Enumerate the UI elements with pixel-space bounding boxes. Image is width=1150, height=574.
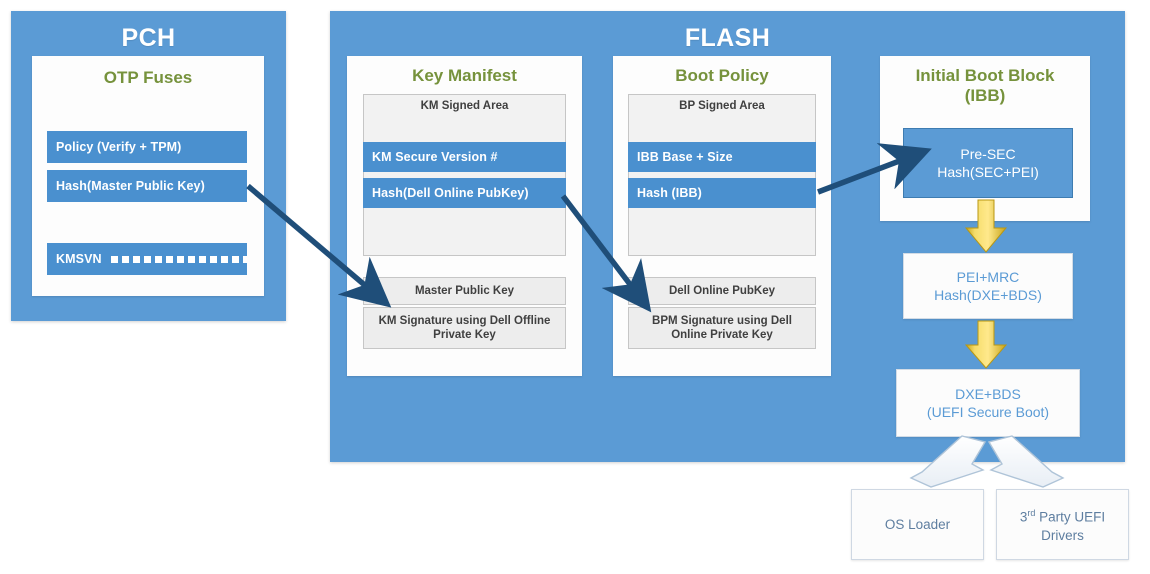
dxe-bds-box: DXE+BDS (UEFI Secure Boot) bbox=[896, 369, 1080, 437]
diagram-canvas: PCH OTP Fuses Policy (Verify + TPM) Hash… bbox=[0, 0, 1150, 574]
third-party-uefi-drivers-box: 3rd Party UEFI Drivers bbox=[996, 489, 1129, 560]
dxe-bds-line1: DXE+BDS bbox=[955, 386, 1021, 402]
otp-fuses-title: OTP Fuses bbox=[32, 68, 264, 88]
third-party-superscript: rd bbox=[1027, 508, 1035, 518]
bp-signed-area-label: BP Signed Area bbox=[629, 100, 815, 112]
km-signature: KM Signature using Dell Offline Private … bbox=[363, 307, 566, 349]
bp-row-hash-ibb: Hash (IBB) bbox=[628, 178, 816, 208]
km-row-hash-dell-online-pubkey: Hash(Dell Online PubKey) bbox=[363, 178, 566, 208]
pei-mrc-line1: PEI+MRC bbox=[957, 269, 1020, 285]
third-party-line2: Drivers bbox=[1041, 528, 1084, 543]
ibb-title: Initial Boot Block (IBB) bbox=[880, 66, 1090, 106]
bp-signature: BPM Signature using Dell Online Private … bbox=[628, 307, 816, 349]
os-loader-label: OS Loader bbox=[885, 516, 950, 534]
pch-row-policy: Policy (Verify + TPM) bbox=[47, 131, 247, 163]
km-row-secure-version: KM Secure Version # bbox=[363, 142, 566, 172]
third-party-line1-rest: Party UEFI bbox=[1039, 510, 1105, 525]
pch-row-hash-master-public-key: Hash(Master Public Key) bbox=[47, 170, 247, 202]
boot-policy-title: Boot Policy bbox=[613, 66, 831, 86]
kmsvn-dotted-fill bbox=[111, 256, 247, 263]
key-manifest-title: Key Manifest bbox=[347, 66, 582, 86]
pre-sec-line2: Hash(SEC+PEI) bbox=[937, 164, 1039, 180]
pch-row-kmsvn: KMSVN bbox=[47, 243, 247, 275]
pre-sec-line1: Pre-SEC bbox=[960, 146, 1015, 162]
km-signed-area: KM Signed Area bbox=[363, 94, 566, 256]
dxe-bds-line2: (UEFI Secure Boot) bbox=[927, 404, 1049, 420]
km-master-public-key: Master Public Key bbox=[363, 277, 566, 305]
os-loader-box: OS Loader bbox=[851, 489, 984, 560]
pei-mrc-line2: Hash(DXE+BDS) bbox=[934, 287, 1042, 303]
bp-signed-area: BP Signed Area bbox=[628, 94, 816, 256]
pch-title: PCH bbox=[11, 24, 286, 53]
bp-dell-online-pubkey: Dell Online PubKey bbox=[628, 277, 816, 305]
ibb-title-line2: (IBB) bbox=[965, 86, 1006, 105]
kmsvn-label: KMSVN bbox=[56, 252, 102, 266]
pre-sec-box: Pre-SEC Hash(SEC+PEI) bbox=[903, 128, 1073, 198]
bp-row-ibb-base-size: IBB Base + Size bbox=[628, 142, 816, 172]
km-signed-area-label: KM Signed Area bbox=[364, 100, 565, 112]
pei-mrc-box: PEI+MRC Hash(DXE+BDS) bbox=[903, 253, 1073, 319]
flash-title: FLASH bbox=[330, 24, 1125, 53]
ibb-title-line1: Initial Boot Block bbox=[916, 66, 1055, 85]
